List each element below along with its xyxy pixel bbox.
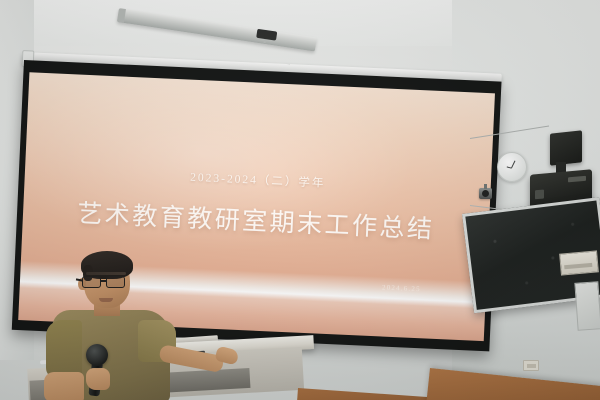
wall-panel bbox=[574, 281, 600, 331]
wall-camera-icon bbox=[479, 188, 492, 199]
presenter bbox=[42, 248, 182, 400]
glasses-bridge bbox=[101, 280, 106, 282]
presenter-shoulder-left bbox=[46, 320, 82, 378]
glasses-temple bbox=[76, 278, 83, 281]
lens-left bbox=[82, 276, 101, 288]
light-mount bbox=[256, 29, 277, 41]
presenter-brow bbox=[86, 272, 126, 275]
presenter-hand-left bbox=[86, 368, 110, 390]
slide-subtitle: 2023-2024（二）学年 bbox=[25, 161, 491, 198]
presenter-mouth bbox=[99, 298, 113, 302]
classroom-presentation-photo: 2023-2024（二）学年 艺术教育教研室期末工作总结 2024.6.25 bbox=[0, 0, 600, 400]
slide-date: 2024.6.25 bbox=[382, 283, 421, 293]
wall-clock-icon bbox=[497, 152, 527, 182]
lens-right bbox=[106, 276, 125, 288]
presenter-arm-left bbox=[44, 372, 84, 400]
electrical-outlet-icon bbox=[523, 360, 539, 371]
wall-box bbox=[559, 250, 599, 275]
speaker-small-icon bbox=[550, 130, 582, 165]
eyeglasses-icon bbox=[81, 276, 133, 288]
slide-title: 艺术教育教研室期末工作总结 bbox=[22, 191, 489, 248]
microphone-icon bbox=[86, 344, 108, 366]
